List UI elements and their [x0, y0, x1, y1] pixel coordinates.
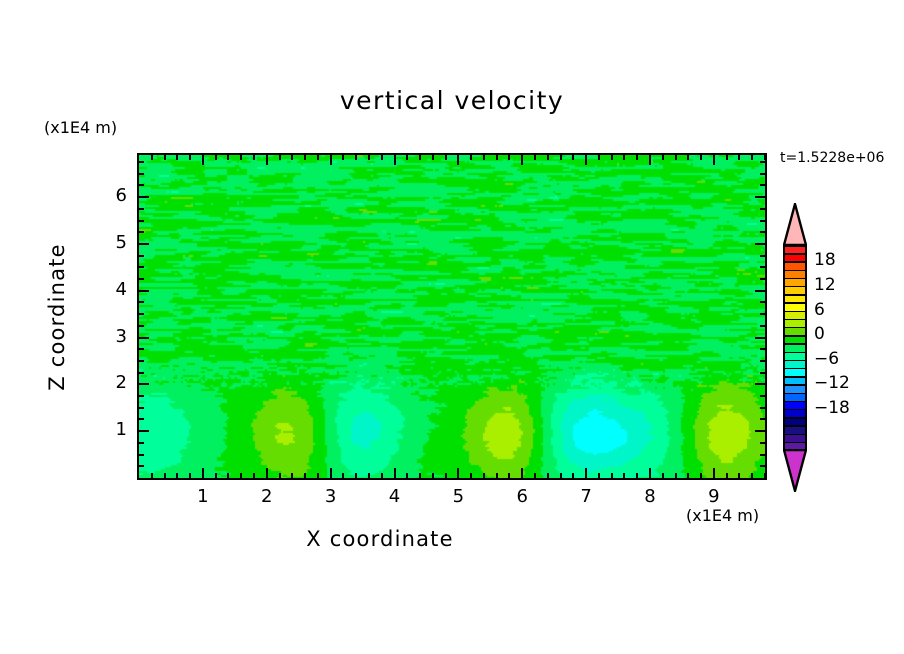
x-tick-minor-top	[253, 155, 255, 160]
colorbar-divider	[783, 294, 807, 295]
x-tick-minor-bottom	[445, 473, 447, 478]
x-tick-label: 5	[438, 486, 478, 507]
time-stamp: t=1.5228e+06	[780, 150, 884, 166]
x-tick-label: 6	[502, 486, 542, 507]
y-tick-minor-left	[139, 442, 144, 444]
x-tick-minor-top	[738, 155, 740, 160]
y-tick-minor-left	[139, 278, 144, 280]
x-tick-minor-bottom	[176, 473, 178, 478]
y-tick-minor-right	[760, 442, 765, 444]
colorbar-under-arrow	[783, 449, 807, 492]
y-tick-label: 3	[87, 326, 127, 347]
y-tick-minor-right	[760, 173, 765, 175]
x-tick-major-top	[713, 155, 715, 165]
x-tick-minor-top	[534, 155, 536, 160]
x-tick-minor-bottom	[406, 473, 408, 478]
x-tick-label: 8	[630, 486, 670, 507]
x-tick-label: 9	[694, 486, 734, 507]
y-tick-minor-right	[760, 266, 765, 268]
x-tick-minor-top	[227, 155, 229, 160]
y-tick-minor-right	[760, 372, 765, 374]
x-tick-minor-bottom	[547, 473, 549, 478]
y-tick-minor-right	[760, 231, 765, 233]
x-tick-major-bottom	[457, 468, 459, 478]
y-tick-major-left	[139, 430, 149, 432]
y-tick-label: 4	[87, 279, 127, 300]
x-tick-minor-bottom	[304, 473, 306, 478]
x-tick-minor-top	[547, 155, 549, 160]
y-tick-minor-right	[760, 348, 765, 350]
y-tick-label: 5	[87, 232, 127, 253]
x-tick-label: 4	[375, 486, 415, 507]
x-tick-minor-top	[751, 155, 753, 160]
y-tick-minor-right	[760, 220, 765, 222]
colorbar-divider	[783, 278, 807, 279]
x-tick-minor-bottom	[419, 473, 421, 478]
x-tick-minor-top	[240, 155, 242, 160]
x-tick-minor-bottom	[496, 473, 498, 478]
y-tick-major-right	[755, 196, 765, 198]
x-tick-minor-top	[636, 155, 638, 160]
y-tick-label: 6	[87, 185, 127, 206]
x-tick-minor-bottom	[572, 473, 574, 478]
x-tick-minor-top	[164, 155, 166, 160]
y-tick-minor-left	[139, 407, 144, 409]
x-tick-minor-top	[368, 155, 370, 160]
y-tick-minor-right	[760, 313, 765, 315]
x-tick-minor-top	[496, 155, 498, 160]
y-tick-minor-left	[139, 266, 144, 268]
x-tick-minor-bottom	[636, 473, 638, 478]
x-tick-minor-top	[291, 155, 293, 160]
x-tick-major-top	[521, 155, 523, 165]
y-tick-minor-left	[139, 161, 144, 163]
y-tick-major-right	[755, 243, 765, 245]
colorbar-divider	[783, 245, 807, 247]
colorbar-tick-label: −18	[814, 398, 850, 418]
y-tick-major-left	[139, 383, 149, 385]
x-tick-minor-bottom	[483, 473, 485, 478]
x-tick-minor-bottom	[738, 473, 740, 478]
colorbar-tick-label: 12	[814, 275, 836, 295]
x-tick-major-top	[266, 155, 268, 165]
x-tick-minor-top	[215, 155, 217, 160]
x-tick-minor-bottom	[470, 473, 472, 478]
x-tick-minor-top	[342, 155, 344, 160]
colorbar-divider	[783, 311, 807, 312]
y-tick-minor-left	[139, 454, 144, 456]
y-tick-minor-left	[139, 255, 144, 257]
x-tick-minor-bottom	[342, 473, 344, 478]
colorbar-divider	[783, 270, 807, 271]
y-tick-minor-left	[139, 220, 144, 222]
x-tick-minor-bottom	[432, 473, 434, 478]
x-tick-minor-top	[611, 155, 613, 160]
colorbar-divider	[783, 352, 807, 353]
y-tick-minor-left	[139, 231, 144, 233]
x-tick-label: 2	[247, 486, 287, 507]
y-tick-major-right	[755, 430, 765, 432]
y-tick-minor-left	[139, 465, 144, 467]
x-tick-minor-top	[419, 155, 421, 160]
y-tick-minor-left	[139, 348, 144, 350]
x-tick-minor-bottom	[598, 473, 600, 478]
x-tick-major-bottom	[713, 468, 715, 478]
colorbar-divider	[783, 319, 807, 320]
colorbar-divider	[783, 335, 807, 336]
colorbar-divider	[783, 261, 807, 262]
x-tick-major-top	[202, 155, 204, 165]
y-tick-minor-right	[760, 418, 765, 420]
colorbar-tick-label: 6	[814, 300, 825, 320]
x-tick-minor-top	[304, 155, 306, 160]
y-tick-minor-right	[760, 325, 765, 327]
x-tick-minor-top	[317, 155, 319, 160]
y-tick-minor-right	[760, 454, 765, 456]
colorbar-divider	[783, 417, 807, 418]
x-tick-minor-bottom	[253, 473, 255, 478]
x-tick-minor-top	[151, 155, 153, 160]
colorbar-divider	[783, 343, 807, 344]
x-tick-minor-bottom	[687, 473, 689, 478]
x-tick-major-bottom	[266, 468, 268, 478]
colorbar-divider	[783, 434, 807, 435]
x-tick-major-bottom	[521, 468, 523, 478]
x-tick-major-top	[585, 155, 587, 165]
y-tick-minor-right	[760, 255, 765, 257]
x-tick-minor-bottom	[189, 473, 191, 478]
x-tick-minor-top	[662, 155, 664, 160]
x-tick-minor-bottom	[240, 473, 242, 478]
y-tick-minor-left	[139, 173, 144, 175]
x-tick-minor-bottom	[355, 473, 357, 478]
y-tick-minor-right	[760, 208, 765, 210]
colorbar-tick-label: 0	[814, 324, 825, 344]
x-tick-minor-top	[483, 155, 485, 160]
y-tick-minor-right	[760, 360, 765, 362]
x-tick-minor-top	[598, 155, 600, 160]
y-tick-minor-left	[139, 313, 144, 315]
y-tick-minor-right	[760, 407, 765, 409]
x-tick-minor-bottom	[560, 473, 562, 478]
y-tick-major-right	[755, 337, 765, 339]
colorbar-tick-label: 18	[814, 250, 836, 270]
page-title: vertical velocity	[0, 86, 904, 115]
x-tick-label: 7	[566, 486, 606, 507]
x-tick-minor-top	[687, 155, 689, 160]
x-axis-title: X coordinate	[0, 527, 760, 551]
x-tick-minor-bottom	[227, 473, 229, 478]
colorbar-divider	[783, 409, 807, 410]
x-tick-minor-top	[279, 155, 281, 160]
x-tick-minor-top	[623, 155, 625, 160]
y-tick-major-left	[139, 290, 149, 292]
x-tick-label: 1	[183, 486, 223, 507]
y-tick-minor-left	[139, 208, 144, 210]
colorbar-divider	[783, 368, 807, 369]
x-tick-minor-top	[675, 155, 677, 160]
y-tick-minor-left	[139, 418, 144, 420]
x-tick-minor-bottom	[381, 473, 383, 478]
x-tick-minor-bottom	[291, 473, 293, 478]
x-tick-minor-bottom	[700, 473, 702, 478]
x-tick-minor-top	[406, 155, 408, 160]
y-axis-unit-label: (x1E4 m)	[44, 118, 117, 137]
y-tick-minor-right	[760, 278, 765, 280]
colorbar-divider	[783, 401, 807, 402]
x-tick-minor-bottom	[623, 473, 625, 478]
y-tick-minor-left	[139, 184, 144, 186]
x-tick-minor-top	[470, 155, 472, 160]
x-tick-major-top	[649, 155, 651, 165]
y-tick-major-right	[755, 290, 765, 292]
y-axis-title: Z coordinate	[45, 217, 69, 417]
x-tick-minor-top	[445, 155, 447, 160]
x-tick-minor-top	[560, 155, 562, 160]
y-tick-minor-left	[139, 395, 144, 397]
x-tick-minor-bottom	[279, 473, 281, 478]
x-tick-minor-top	[572, 155, 574, 160]
x-tick-minor-top	[189, 155, 191, 160]
y-tick-minor-left	[139, 360, 144, 362]
x-tick-major-bottom	[649, 468, 651, 478]
colorbar-tick-label: −12	[814, 373, 850, 393]
x-tick-minor-bottom	[151, 473, 153, 478]
colorbar-divider	[783, 442, 807, 443]
velocity-field-canvas	[139, 155, 765, 478]
x-tick-minor-bottom	[534, 473, 536, 478]
y-tick-label: 2	[87, 372, 127, 393]
y-tick-major-left	[139, 243, 149, 245]
colorbar-divider	[783, 327, 807, 328]
y-tick-minor-right	[760, 465, 765, 467]
y-tick-minor-right	[760, 161, 765, 163]
contour-plot-area	[137, 153, 767, 480]
x-axis-unit-label: (x1E4 m)	[686, 506, 759, 525]
y-tick-minor-right	[760, 395, 765, 397]
x-tick-label: 3	[311, 486, 351, 507]
colorbar-over-arrow	[783, 203, 807, 246]
x-tick-minor-bottom	[611, 473, 613, 478]
colorbar-divider	[783, 376, 807, 377]
x-tick-minor-bottom	[726, 473, 728, 478]
x-tick-minor-top	[381, 155, 383, 160]
x-tick-major-top	[457, 155, 459, 165]
colorbar-divider	[783, 384, 807, 385]
x-tick-major-top	[330, 155, 332, 165]
x-tick-major-bottom	[202, 468, 204, 478]
colorbar-tick-label: −6	[814, 349, 839, 369]
colorbar-divider	[783, 286, 807, 287]
y-tick-major-left	[139, 196, 149, 198]
y-tick-minor-left	[139, 372, 144, 374]
x-tick-minor-top	[764, 155, 766, 160]
y-tick-minor-left	[139, 325, 144, 327]
x-tick-major-bottom	[394, 468, 396, 478]
y-tick-major-right	[755, 383, 765, 385]
y-tick-minor-right	[760, 184, 765, 186]
colorbar-divider	[783, 253, 807, 254]
y-tick-minor-left	[139, 301, 144, 303]
y-tick-minor-right	[760, 301, 765, 303]
x-tick-minor-top	[355, 155, 357, 160]
x-tick-minor-bottom	[164, 473, 166, 478]
x-tick-major-bottom	[585, 468, 587, 478]
colorbar-divider	[783, 302, 807, 303]
x-tick-minor-bottom	[675, 473, 677, 478]
y-tick-major-left	[139, 337, 149, 339]
y-tick-label: 1	[87, 419, 127, 440]
x-tick-major-bottom	[330, 468, 332, 478]
x-tick-minor-top	[726, 155, 728, 160]
x-tick-minor-bottom	[368, 473, 370, 478]
colorbar	[783, 245, 807, 450]
x-tick-minor-bottom	[215, 473, 217, 478]
x-tick-minor-bottom	[508, 473, 510, 478]
x-tick-minor-bottom	[317, 473, 319, 478]
x-tick-minor-bottom	[764, 473, 766, 478]
x-tick-minor-bottom	[662, 473, 664, 478]
colorbar-divider	[783, 393, 807, 394]
x-tick-minor-top	[508, 155, 510, 160]
colorbar-divider	[783, 425, 807, 426]
colorbar-divider	[783, 360, 807, 361]
x-tick-minor-top	[700, 155, 702, 160]
x-tick-minor-top	[432, 155, 434, 160]
x-tick-minor-top	[176, 155, 178, 160]
x-tick-major-top	[394, 155, 396, 165]
x-tick-minor-bottom	[751, 473, 753, 478]
